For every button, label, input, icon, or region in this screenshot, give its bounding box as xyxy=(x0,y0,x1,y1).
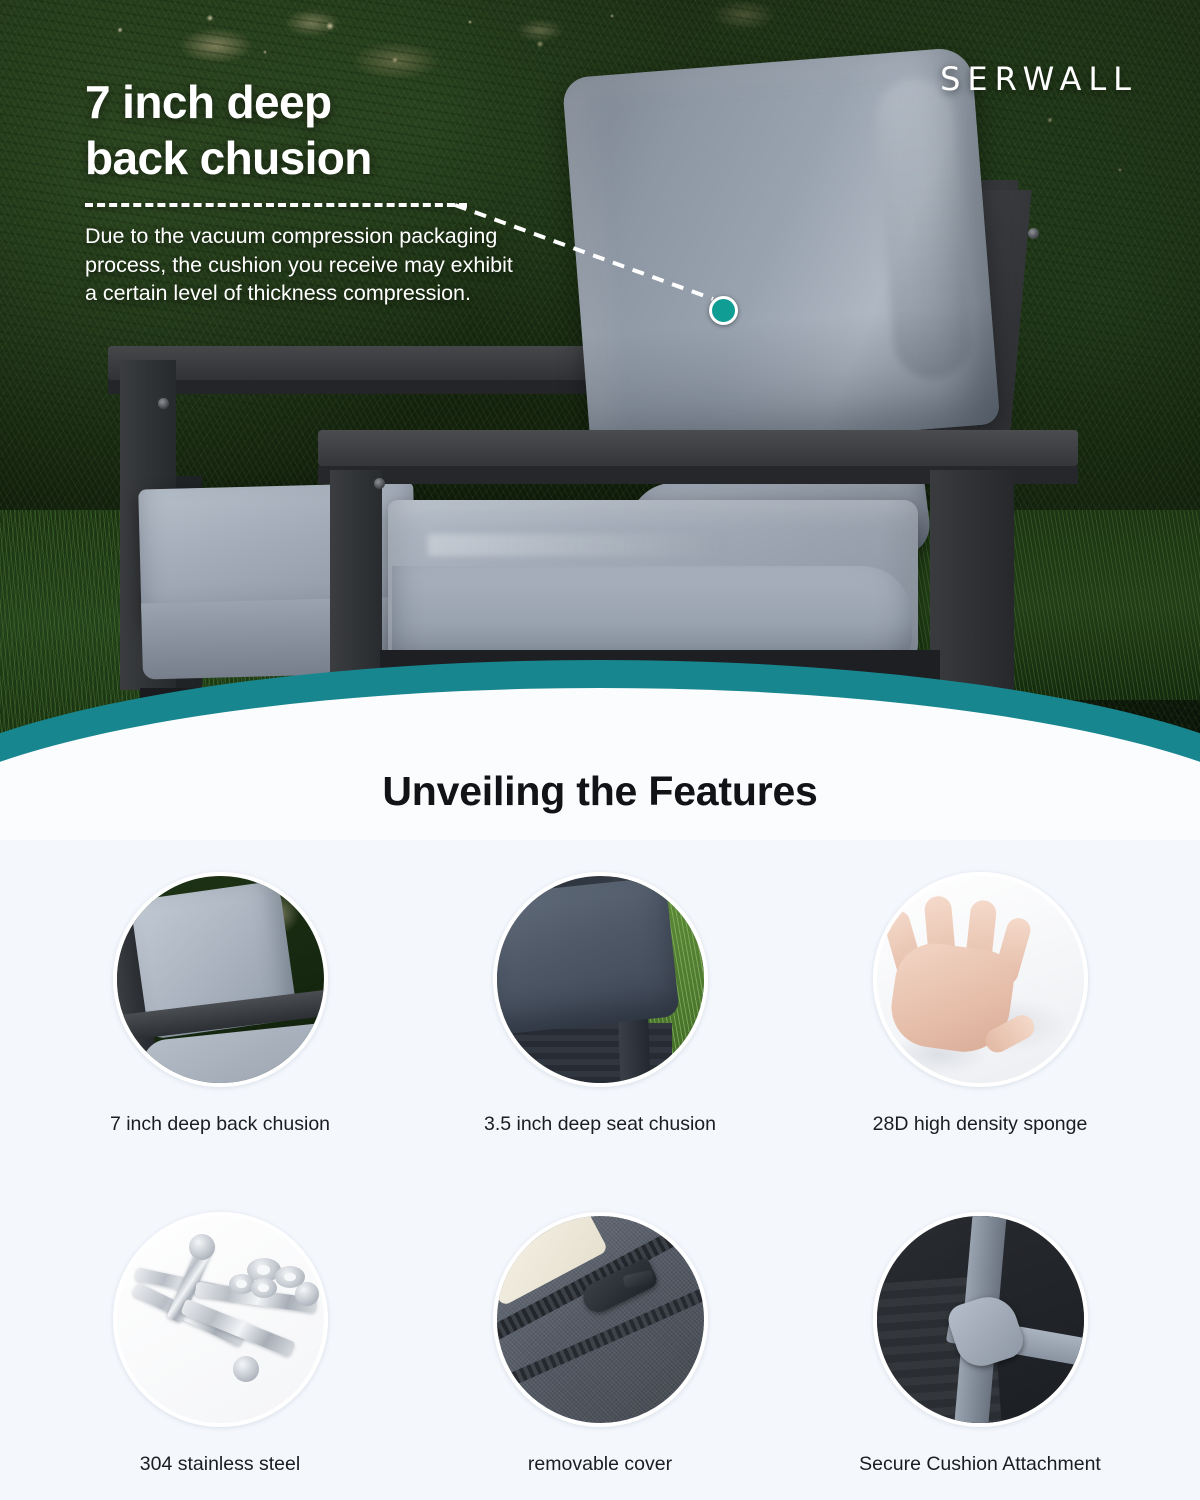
back-cushion-photo xyxy=(113,872,328,1087)
features-section-title: Unveiling the Features xyxy=(0,768,1200,815)
hero-headline-line1: 7 inch deep xyxy=(85,74,555,130)
zipper-closeup-photo xyxy=(493,1212,708,1427)
feature-item[interactable]: 7 inch deep back chusion xyxy=(30,872,410,1136)
screw-icon xyxy=(374,478,385,489)
feature-caption: 3.5 inch deep seat chusion xyxy=(484,1113,716,1136)
screw-icon xyxy=(158,398,169,409)
headline-divider xyxy=(85,203,467,207)
feature-caption: 28D high density sponge xyxy=(873,1113,1088,1136)
hero-headline: 7 inch deep back chusion xyxy=(85,74,555,186)
features-row-1: 7 inch deep back chusion 3.5 inch deep s… xyxy=(0,872,1200,1136)
callout-dot xyxy=(709,296,738,325)
brand-logo: SERWALL xyxy=(940,60,1138,98)
feature-item[interactable]: 304 stainless steel xyxy=(30,1212,410,1476)
feature-item[interactable]: 3.5 inch deep seat chusion xyxy=(410,872,790,1136)
feature-caption: Secure Cushion Attachment xyxy=(859,1453,1101,1476)
chair-arm-rail xyxy=(318,430,1078,466)
feature-caption: removable cover xyxy=(528,1453,672,1476)
hand-pressing-foam-photo xyxy=(873,872,1088,1087)
stainless-bolts-photo xyxy=(113,1212,328,1427)
screw-icon xyxy=(1028,228,1039,239)
feature-item[interactable]: 28D high density sponge xyxy=(790,872,1170,1136)
feature-caption: 304 stainless steel xyxy=(140,1453,300,1476)
feature-item[interactable]: removable cover xyxy=(410,1212,790,1476)
features-grid: 7 inch deep back chusion 3.5 inch deep s… xyxy=(0,872,1200,1476)
feature-caption: 7 inch deep back chusion xyxy=(110,1113,330,1136)
hero-banner: 7 inch deep back chusion Due to the vacu… xyxy=(0,0,1200,760)
tie-strap-knot-photo xyxy=(873,1212,1088,1427)
features-row-2: 304 stainless steel removable cover Secu… xyxy=(0,1212,1200,1476)
seat-cushion-photo xyxy=(493,872,708,1087)
hero-headline-line2: back chusion xyxy=(85,130,555,186)
feature-item[interactable]: Secure Cushion Attachment xyxy=(790,1212,1170,1476)
